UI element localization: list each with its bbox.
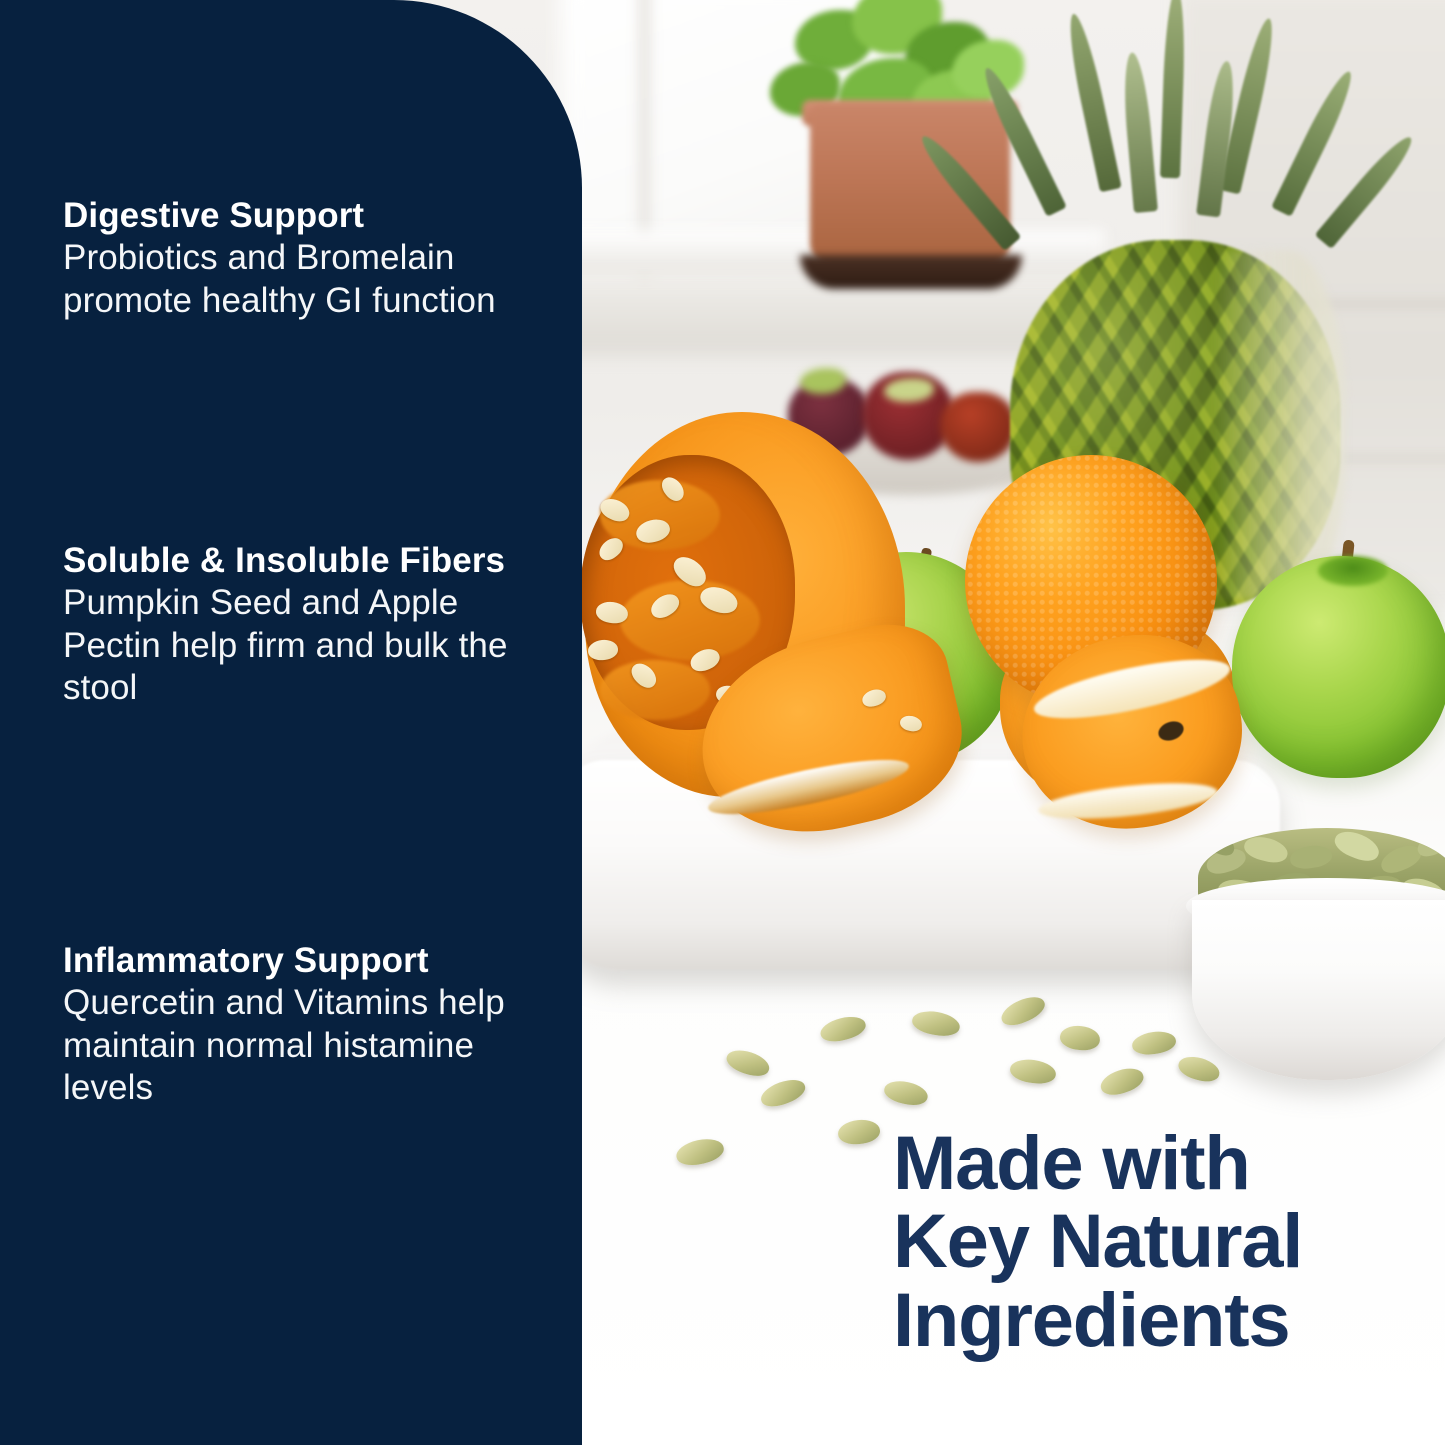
feature-soluble-insoluble-fibers: Soluble & Insoluble Fibers Pumpkin Seed …	[63, 540, 563, 710]
feature-heading: Soluble & Insoluble Fibers	[63, 540, 563, 582]
benefits-list: Digestive Support Probiotics and Bromela…	[63, 0, 563, 1445]
feature-digestive-support: Digestive Support Probiotics and Bromela…	[63, 195, 563, 322]
feature-body: Pumpkin Seed and Apple Pectin help firm …	[63, 582, 563, 710]
headline-line-2: Key Natural	[893, 1203, 1413, 1281]
benefits-panel: Digestive Support Probiotics and Bromela…	[0, 0, 582, 1445]
feature-body: Quercetin and Vitamins help maintain nor…	[63, 982, 563, 1110]
headline-line-3: Ingredients	[893, 1282, 1413, 1360]
made-with-key-natural-ingredients-headline: Made with Key Natural Ingredients	[893, 1125, 1413, 1360]
headline-line-1: Made with	[893, 1125, 1413, 1203]
feature-heading: Inflammatory Support	[63, 940, 563, 982]
feature-body: Probiotics and Bromelain promote healthy…	[63, 237, 563, 322]
feature-heading: Digestive Support	[63, 195, 563, 237]
infographic-canvas: Digestive Support Probiotics and Bromela…	[0, 0, 1445, 1445]
feature-inflammatory-support: Inflammatory Support Quercetin and Vitam…	[63, 940, 563, 1110]
